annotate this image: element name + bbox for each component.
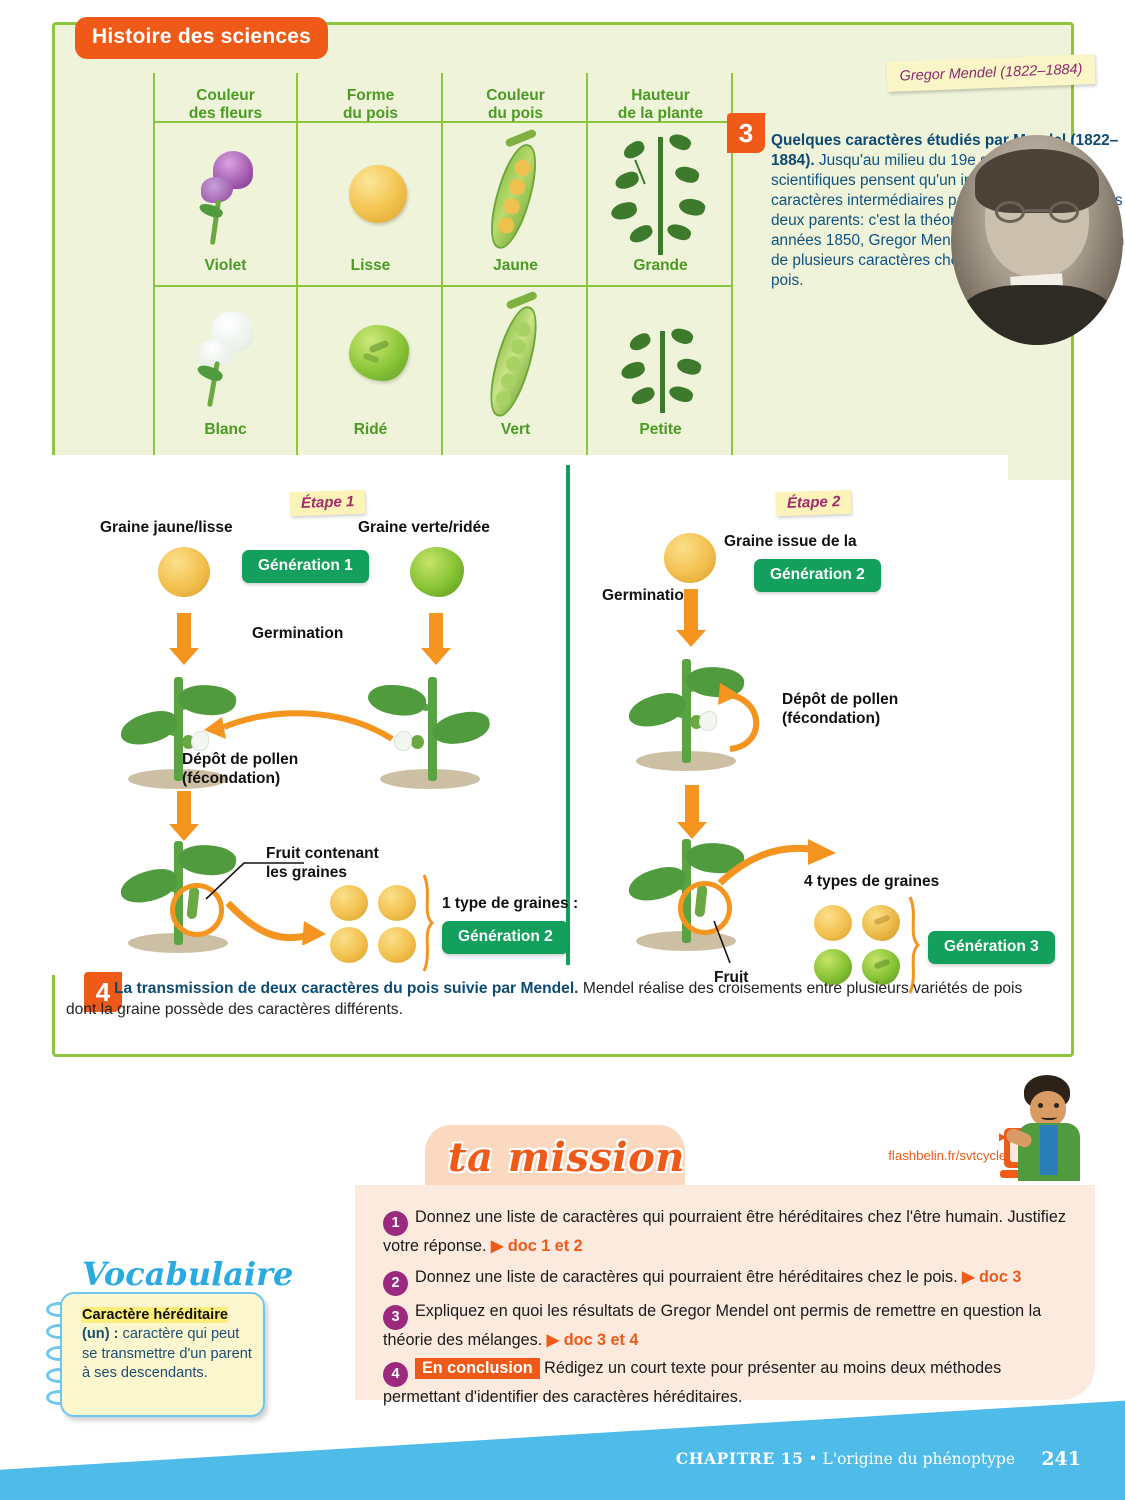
table-header-pea-shape: Forme du pois [298, 87, 443, 124]
vocabulaire-definition: Caractère héréditaire (un) : caractère q… [82, 1306, 252, 1384]
header-line2: de la plante [618, 105, 703, 122]
question-doc-ref[interactable]: ▶ doc 1 et 2 [491, 1237, 583, 1255]
short-plant-icon [613, 321, 713, 417]
smooth-pea-icon [349, 165, 407, 223]
pollen-line2: (fécondation) [782, 710, 880, 727]
seed4-yellow-smooth [814, 905, 852, 941]
question-doc-ref[interactable]: ▶ doc 3 et 4 [547, 1331, 639, 1349]
fruit-contenant-label: Fruit contenant les graines [266, 845, 379, 883]
green-wrinkled-seed-icon [410, 547, 464, 597]
diagram-divider [566, 465, 570, 965]
pollen-label-left: Dépôt de pollen (fécondation) [182, 751, 298, 789]
result-label-left: 1 type de graines : [442, 895, 578, 914]
fruit-line1: Fruit contenant [266, 845, 379, 862]
cell-petite: Petite [588, 421, 733, 439]
cell-jaune: Jaune [443, 257, 588, 275]
growth-arrow-left [177, 791, 191, 825]
germination-label-right: Germination [602, 587, 693, 606]
vocabulaire-box: Caractère héréditaire (un) : caractère q… [60, 1292, 265, 1417]
etape-2-label: Étape 2 [776, 490, 852, 517]
graine-issue-label: Graine issue de la [724, 533, 857, 552]
header-line1: Forme [347, 87, 394, 104]
pollen-line1: Dépôt de pollen [782, 691, 898, 708]
fruit-leader-line-right [700, 917, 750, 975]
conclusion-badge: En conclusion [415, 1358, 540, 1379]
seed-result-2 [378, 885, 416, 921]
mission-title: ta mission [448, 1134, 685, 1181]
mendel-portrait [951, 135, 1123, 345]
germination-label-left: Germination [252, 625, 343, 644]
growth-arrow-right [685, 785, 699, 823]
fruit-line2: les graines [266, 864, 347, 881]
question-text: Donnez une liste de caractères qui pourr… [383, 1208, 1066, 1255]
footer-chapter-title: L'origine du phénoptype [823, 1450, 1015, 1468]
vocab-term: Caractère héréditaire [82, 1307, 228, 1323]
header-line2: du pois [488, 105, 543, 122]
result-label-right: 4 types de graines [804, 873, 939, 892]
white-flower-icon [197, 311, 255, 411]
table-header-flower-color: Couleur des fleurs [153, 87, 298, 124]
question-number: 4 [383, 1362, 408, 1387]
question-3[interactable]: 3Expliquez en quoi les résultats de Greg… [383, 1301, 1073, 1352]
cell-vert: Vert [443, 421, 588, 439]
germination-arrow-right2 [684, 589, 698, 631]
question-doc-ref[interactable]: ▶ doc 3 [962, 1268, 1021, 1286]
header-line1: Couleur [486, 87, 545, 104]
generation-2-badge-right: Génération 2 [754, 559, 881, 592]
footer-separator: • [804, 1450, 823, 1468]
doc3-number-badge: 3 [727, 113, 765, 153]
pollen-line1: Dépôt de pollen [182, 751, 298, 768]
question-number: 3 [383, 1305, 408, 1330]
header-line1: Hauteur [631, 87, 690, 104]
question-text: Donnez une liste de caractères qui pourr… [415, 1268, 958, 1286]
question-number: 1 [383, 1211, 408, 1236]
graine-jaune-lisse-label: Graine jaune/lisse [100, 519, 233, 538]
violet-flower-icon [197, 151, 255, 251]
question-1[interactable]: 1Donnez une liste de caractères qui pour… [383, 1207, 1073, 1258]
cell-blanc: Blanc [153, 421, 298, 439]
question-text: Expliquez en quoi les résultats de Grego… [383, 1302, 1041, 1349]
brace-left [420, 873, 438, 973]
cell-ride: Ridé [298, 421, 443, 439]
seeds-output-arrow-left [222, 893, 332, 945]
seed-result-4 [378, 927, 416, 963]
footer-chapter: CHAPITRE 15 • L'origine du phénoptype [676, 1449, 1015, 1468]
seed4-yellow-wrinkled [862, 905, 900, 941]
doc4-caption: La transmission de deux caractères du po… [66, 978, 1046, 1020]
generation-3-badge: Génération 3 [928, 931, 1055, 964]
table-header-pea-color: Couleur du pois [443, 87, 588, 124]
section-tag: Histoire des sciences [78, 20, 325, 56]
mendel-characters-table: Couleur des fleurs Forme du pois Couleur… [153, 73, 733, 473]
cell-lisse: Lisse [298, 257, 443, 275]
generation-2-badge-left: Génération 2 [442, 921, 569, 954]
footer-chapter-number: CHAPITRE 15 [676, 1449, 804, 1468]
doc4-title: La transmission de deux caractères du po… [114, 980, 579, 997]
header-line2: du pois [343, 105, 398, 122]
yellow-seed-icon [158, 547, 210, 597]
germination-arrow-left [177, 613, 191, 649]
table-header-plant-height: Hauteur de la plante [588, 87, 733, 124]
yellow-seed-icon-right [664, 533, 716, 583]
etape-1-label: Étape 1 [290, 490, 366, 517]
seed-result-3 [330, 927, 368, 963]
header-line2: des fleurs [189, 105, 262, 122]
cell-grande: Grande [588, 257, 733, 275]
mission-questions-list: 1Donnez une liste de caractères qui pour… [383, 1207, 1073, 1409]
pollen-label-right: Dépôt de pollen (fécondation) [782, 691, 898, 729]
vocab-term-suffix: (un) : [82, 1326, 118, 1342]
germination-arrow-right [429, 613, 443, 649]
graine-verte-ridee-label: Graine verte/ridée [358, 519, 490, 538]
wrinkled-pea-icon [349, 325, 409, 381]
generation-1-badge: Génération 1 [242, 550, 369, 583]
seed-result-1 [330, 885, 368, 921]
cell-violet: Violet [153, 257, 298, 275]
self-pollination-arrow [704, 683, 774, 763]
header-line1: Couleur [196, 87, 255, 104]
student-illustration [1010, 1075, 1100, 1185]
question-4[interactable]: 4En conclusion Rédigez un court texte po… [383, 1358, 1073, 1409]
pollen-line2: (fécondation) [182, 770, 280, 787]
question-number: 2 [383, 1271, 408, 1296]
tall-plant-icon [605, 129, 717, 259]
mendel-experiment-diagram: Étape 1 Graine jaune/lisse Graine verte/… [14, 455, 1008, 975]
question-2[interactable]: 2Donnez une liste de caractères qui pour… [383, 1267, 1073, 1296]
vocabulaire-title: Vocabulaire [82, 1255, 293, 1293]
page-number: 241 [1041, 1448, 1081, 1470]
